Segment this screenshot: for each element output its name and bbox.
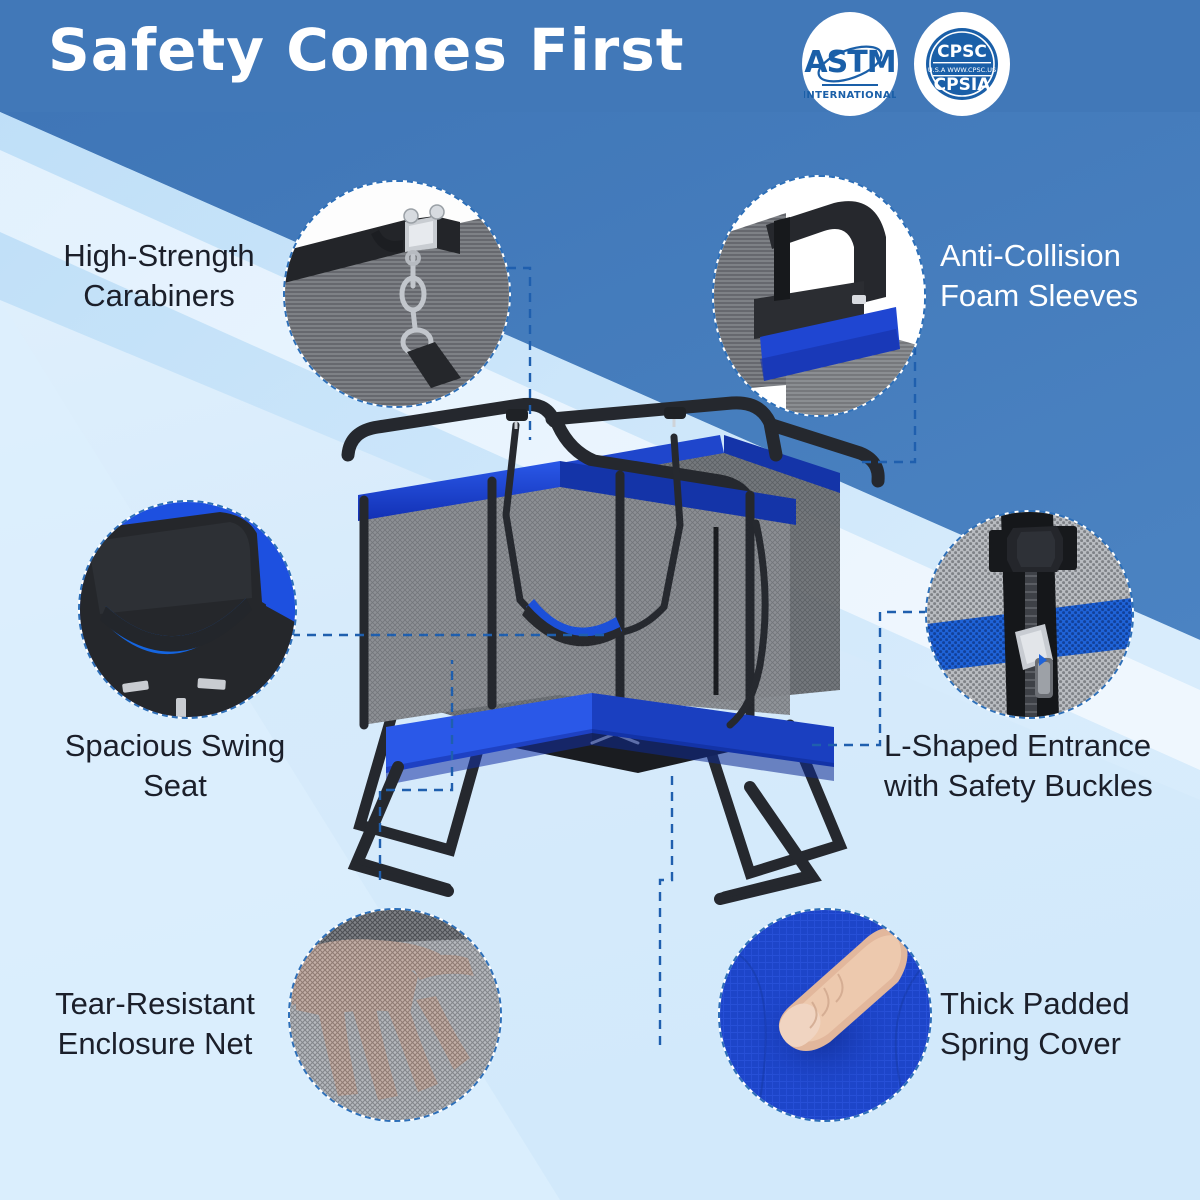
cpsc-cpsia-badge: CPSC U.S.A WWW.CPSC.US CPSIA [914,12,1010,116]
astm-badge-icon: ASTM INTERNATIONAL [804,14,896,114]
carabiner-closeup-image [285,182,509,406]
cpsc-cpsia-badge-icon: CPSC U.S.A WWW.CPSC.US CPSIA [916,14,1008,114]
label-spacious-swing-seat: Spacious Swing Seat [40,726,310,805]
zipper-buckle-closeup-image [927,512,1132,717]
swing-seat-closeup-image [80,502,295,717]
inset-carabiner-closeup [283,180,511,408]
spring-cover-finger-closeup-image [720,910,930,1120]
label-tear-resistant-enclosure-net: Tear-Resistant Enclosure Net [24,984,286,1063]
page-title: Safety Comes First [48,16,684,84]
svg-text:INTERNATIONAL: INTERNATIONAL [804,90,896,101]
svg-text:CPSIA: CPSIA [934,75,992,95]
svg-text:CPSC: CPSC [937,42,987,62]
mesh-net-hand-closeup-image [290,910,500,1120]
product-trampoline [320,395,900,905]
inset-swing-seat-closeup [78,500,297,719]
svg-text:U.S.A WWW.CPSC.US: U.S.A WWW.CPSC.US [928,66,996,74]
foam-sleeve-closeup-image [714,177,924,415]
label-thick-padded-spring-cover: Thick Padded Spring Cover [940,984,1190,1063]
header-bar: Safety Comes First ASTM INTERNATIONAL [0,0,1200,112]
label-l-shaped-entrance-with-safety-buckles: L-Shaped Entrance with Safety Buckles [884,726,1200,805]
inset-zipper-buckle-closeup [925,510,1134,719]
astm-badge: ASTM INTERNATIONAL [802,12,898,116]
label-high-strength-carabiners: High-Strength Carabiners [34,236,284,315]
infographic-stage: Safety Comes First ASTM INTERNATIONAL [0,0,1200,1200]
label-anti-collision-foam-sleeves: Anti-Collision Foam Sleeves [940,236,1190,315]
certification-badges: ASTM INTERNATIONAL CPSC U.S.A WWW.CPSC.U… [802,12,1010,116]
trampoline-illustration [320,395,900,905]
inset-foam-sleeve-closeup [712,175,926,417]
inset-spring-cover-finger-closeup [718,908,932,1122]
inset-mesh-net-hand-closeup [288,908,502,1122]
